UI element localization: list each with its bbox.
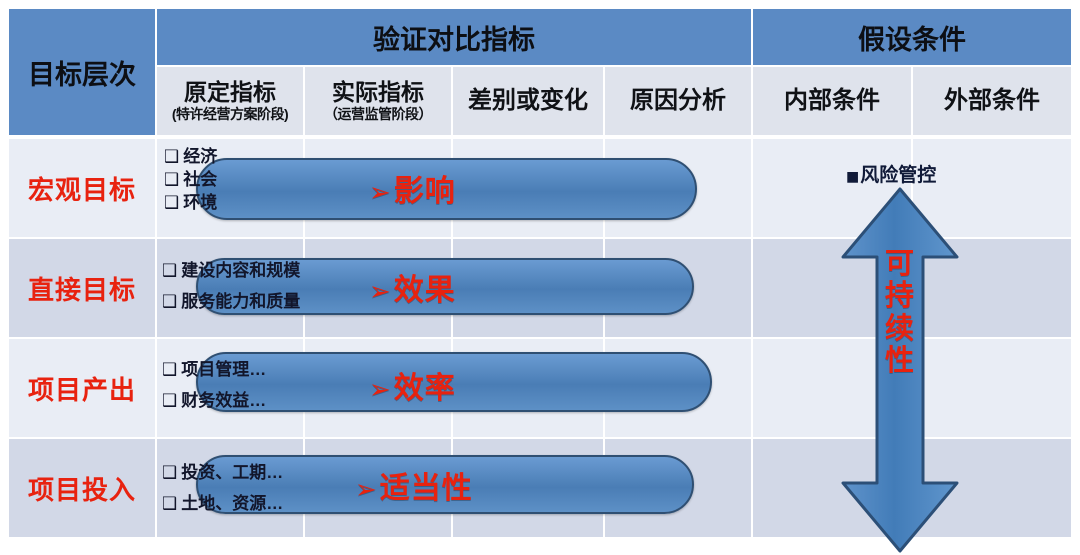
checkbox-icon: ❑ [162,261,177,281]
header-group-verify-label: 验证对比指标 [373,18,535,57]
table-row: 宏观目标 [8,138,156,238]
row3-bullets: ❑项目管理… ❑财务效益… [162,355,266,417]
row4-bullets: ❑投资、工期… ❑土地、资源… [162,458,283,520]
subheader-difference: 差别或变化 [452,66,604,136]
list-item: ❑项目管理… [162,355,266,386]
checkbox-icon: ❑ [162,292,177,312]
subheader-external-condition: 外部条件 [912,66,1072,136]
subheader-external-condition-title: 外部条件 [944,88,1040,113]
arrow-right-icon: ➢ [355,475,378,505]
subheader-cause-analysis: 原因分析 [604,66,752,136]
list-item: ❑环境 [164,192,217,215]
checkbox-icon: ❑ [162,391,177,411]
list-item: ❑社会 [164,169,217,192]
header-group-assumption: 假设条件 [752,8,1072,66]
subheader-planned-indicator-title: 原定指标 [184,80,276,104]
subheader-actual-indicator: 实际指标 （运营监管阶段） [304,66,452,136]
list-item: ❑土地、资源… [162,489,283,520]
subheader-internal-condition: 内部条件 [752,66,912,136]
subheader-planned-indicator-note: (特许经营方案阶段) [172,107,288,122]
checkbox-icon: ❑ [162,463,177,483]
row-level-label: 直接目标 [28,270,136,307]
table-row: 项目投入 [8,438,156,538]
row3-pill-label: ➢效率 [369,363,456,407]
arrow-right-icon: ➢ [369,178,392,208]
subheader-actual-indicator-title: 实际指标 [332,80,424,104]
header-group-assumption-label: 假设条件 [858,18,966,57]
square-bullet-icon: ■ [846,169,859,185]
row1-pill-label: ➢影响 [369,166,456,210]
list-item: ❑财务效益… [162,386,266,417]
table-row: 直接目标 [8,238,156,338]
table-row: 项目产出 [8,338,156,438]
row2-pill-label: ➢效果 [369,265,456,309]
list-item: ❑服务能力和质量 [162,287,300,318]
checkbox-icon: ❑ [164,147,179,167]
sustainability-label: 可 持 续 性 [870,248,930,378]
checkbox-icon: ❑ [162,494,177,514]
row1-bullets: ❑经济 ❑社会 ❑环境 [164,146,217,214]
diagram-canvas: 目标层次 验证对比指标 假设条件 原定指标 (特许经营方案阶段) 实际指标 （运… [0,0,1080,548]
header-level-label: 目标层次 [28,53,136,92]
subheader-planned-indicator: 原定指标 (特许经营方案阶段) [156,66,304,136]
header-level-column: 目标层次 [8,8,156,136]
header-group-verify: 验证对比指标 [156,8,752,66]
checkbox-icon: ❑ [164,170,179,190]
row2-bullets: ❑建设内容和规模 ❑服务能力和质量 [162,256,300,318]
list-item: ❑经济 [164,146,217,169]
subheader-cause-analysis-title: 原因分析 [630,88,726,113]
row-level-label: 项目投入 [28,470,136,507]
risk-control-label: ■风险管控 [846,160,936,187]
checkbox-icon: ❑ [164,193,179,213]
row-level-label: 宏观目标 [28,170,136,207]
arrow-right-icon: ➢ [369,375,392,405]
list-item: ❑建设内容和规模 [162,256,300,287]
subheader-actual-indicator-note: （运营监管阶段） [324,107,432,122]
row4-pill-label: ➢适当性 [355,463,473,507]
subheader-internal-condition-title: 内部条件 [784,88,880,113]
row-level-label: 项目产出 [28,370,136,407]
subheader-difference-title: 差别或变化 [468,88,588,113]
arrow-right-icon: ➢ [369,277,392,307]
checkbox-icon: ❑ [162,360,177,380]
list-item: ❑投资、工期… [162,458,283,489]
